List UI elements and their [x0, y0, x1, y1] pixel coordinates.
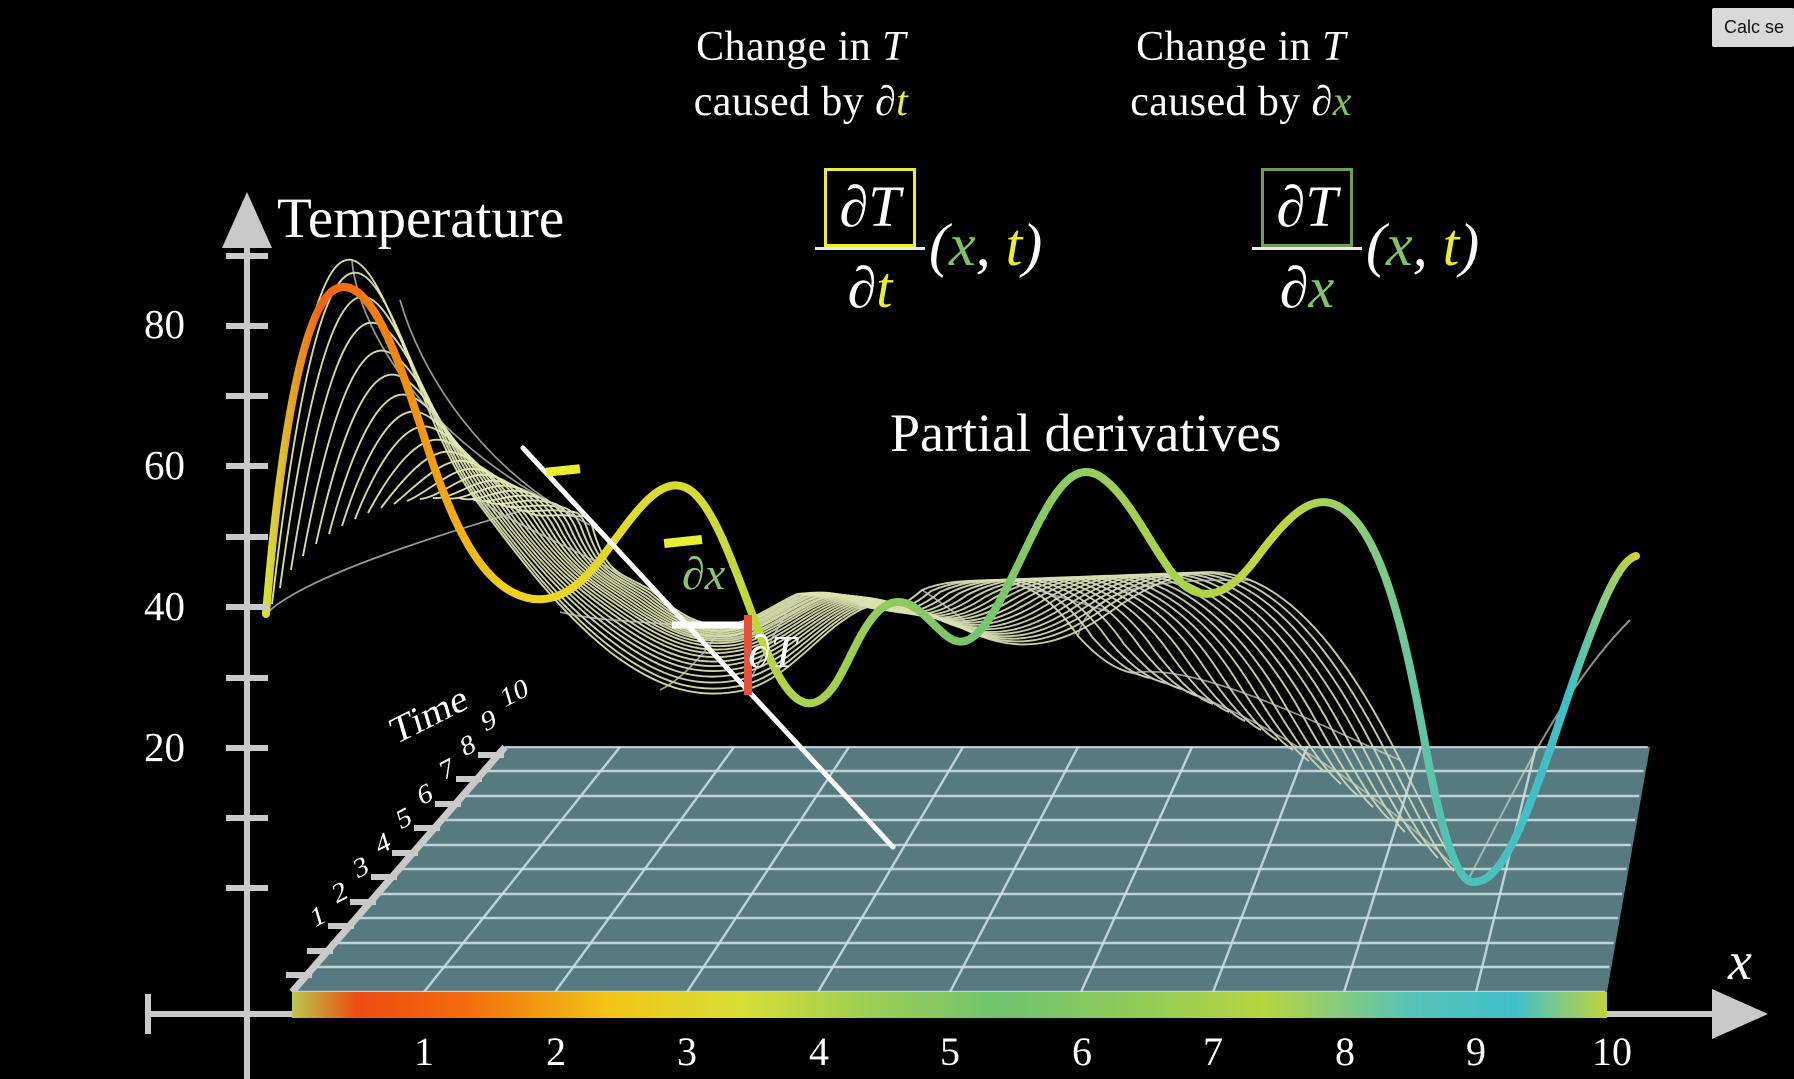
formula-2-numerator: ∂T: [1261, 168, 1354, 247]
x-tick-label-8: 8: [1315, 1028, 1375, 1075]
formula-2-den-var: x: [1308, 255, 1334, 320]
page-title: Partial derivatives: [890, 402, 1281, 464]
caption-2-line1-pre: Change in: [1136, 24, 1322, 70]
y-tick-label-40: 40: [95, 582, 185, 630]
visualization-stage: Change in T caused by ∂t Change in T cau…: [0, 0, 1794, 1079]
arg-x: x: [949, 212, 976, 278]
paren-open: (: [929, 212, 949, 278]
temperature-axis: [222, 192, 272, 1079]
temperature-colorbar: [292, 992, 1607, 1018]
formula-2-denominator: ∂x: [1267, 250, 1347, 323]
caption-2-line2-var: x: [1333, 79, 1352, 125]
y-tick-label-20: 20: [95, 723, 185, 771]
paren-close: ): [1022, 212, 1042, 278]
partial-symbol: ∂: [848, 255, 877, 320]
x-tick-label-4: 4: [789, 1028, 849, 1075]
caption-line-1: Change in T: [636, 20, 966, 75]
formula-1-arguments: (x, t): [925, 211, 1042, 280]
x-tick-label-7: 7: [1183, 1028, 1243, 1075]
formula-1-denominator: ∂t: [835, 250, 906, 323]
arg-t: t: [1443, 212, 1460, 278]
arg-comma: ,: [1413, 212, 1443, 278]
y-tick-label-80: 80: [95, 300, 185, 348]
formula-1-den-var: t: [876, 255, 892, 320]
formula-2-arguments: (x, t): [1362, 211, 1479, 280]
dx-annotation-label: ∂x: [682, 547, 725, 600]
x-tick-label-6: 6: [1052, 1028, 1112, 1075]
arg-x: x: [1386, 212, 1413, 278]
formula-1-num-var: T: [868, 174, 900, 239]
arg-t: t: [1006, 212, 1023, 278]
formula-2-num-var: T: [1305, 174, 1337, 239]
temperature-axis-arrow: [222, 192, 272, 248]
caption-line-1: Change in T: [1076, 20, 1406, 75]
caption-1-line2-pre: caused by: [694, 79, 875, 125]
x-tick-label-3: 3: [657, 1028, 717, 1075]
x-tick-label-5: 5: [920, 1028, 980, 1075]
partial-symbol: ∂: [1277, 174, 1306, 239]
tangent-tick-upper: [546, 464, 581, 477]
paren-close: ): [1459, 212, 1479, 278]
status-badge[interactable]: Calc se: [1712, 8, 1794, 47]
caption-line-2: caused by ∂x: [1076, 75, 1406, 130]
caption-2-line2-pre: caused by: [1130, 79, 1311, 125]
y-tick-label-60: 60: [95, 441, 185, 489]
floor-plane: [292, 747, 1650, 992]
formula-dT-dx: ∂T ∂x (x, t): [1252, 168, 1479, 323]
caption-change-by-dx: Change in T caused by ∂x: [1076, 20, 1406, 131]
caption-line-2: caused by ∂t: [636, 75, 966, 130]
caption-change-by-dt: Change in T caused by ∂t: [636, 20, 966, 131]
arg-comma: ,: [976, 212, 1006, 278]
partial-symbol: ∂: [1280, 255, 1309, 320]
caption-1-line2-var: t: [896, 79, 908, 125]
x-tick-label-2: 2: [526, 1028, 586, 1075]
x-tick-label-9: 9: [1446, 1028, 1506, 1075]
x-tick-label-10: 10: [1572, 1028, 1652, 1075]
paren-open: (: [1366, 212, 1386, 278]
partial-symbol: ∂: [1312, 79, 1333, 125]
dT-annotation-label: ∂T: [748, 625, 796, 678]
x-axis-label: x: [1728, 930, 1752, 992]
caption-2-line1-var: T: [1322, 24, 1346, 70]
caption-1-line1-pre: Change in: [696, 24, 882, 70]
x-axis-arrow: [1712, 989, 1768, 1039]
x-tick-label-1: 1: [394, 1028, 454, 1075]
plot-canvas: [0, 0, 1794, 1079]
formula-1-numerator: ∂T: [824, 168, 917, 247]
caption-1-line1-var: T: [882, 24, 906, 70]
formula-dT-dt: ∂T ∂t (x, t): [815, 168, 1042, 323]
partial-symbol: ∂: [875, 79, 896, 125]
fraction: ∂T ∂x: [1252, 168, 1362, 323]
partial-symbol: ∂: [840, 174, 869, 239]
fraction: ∂T ∂t: [815, 168, 925, 323]
temperature-axis-label: Temperature: [277, 186, 564, 251]
